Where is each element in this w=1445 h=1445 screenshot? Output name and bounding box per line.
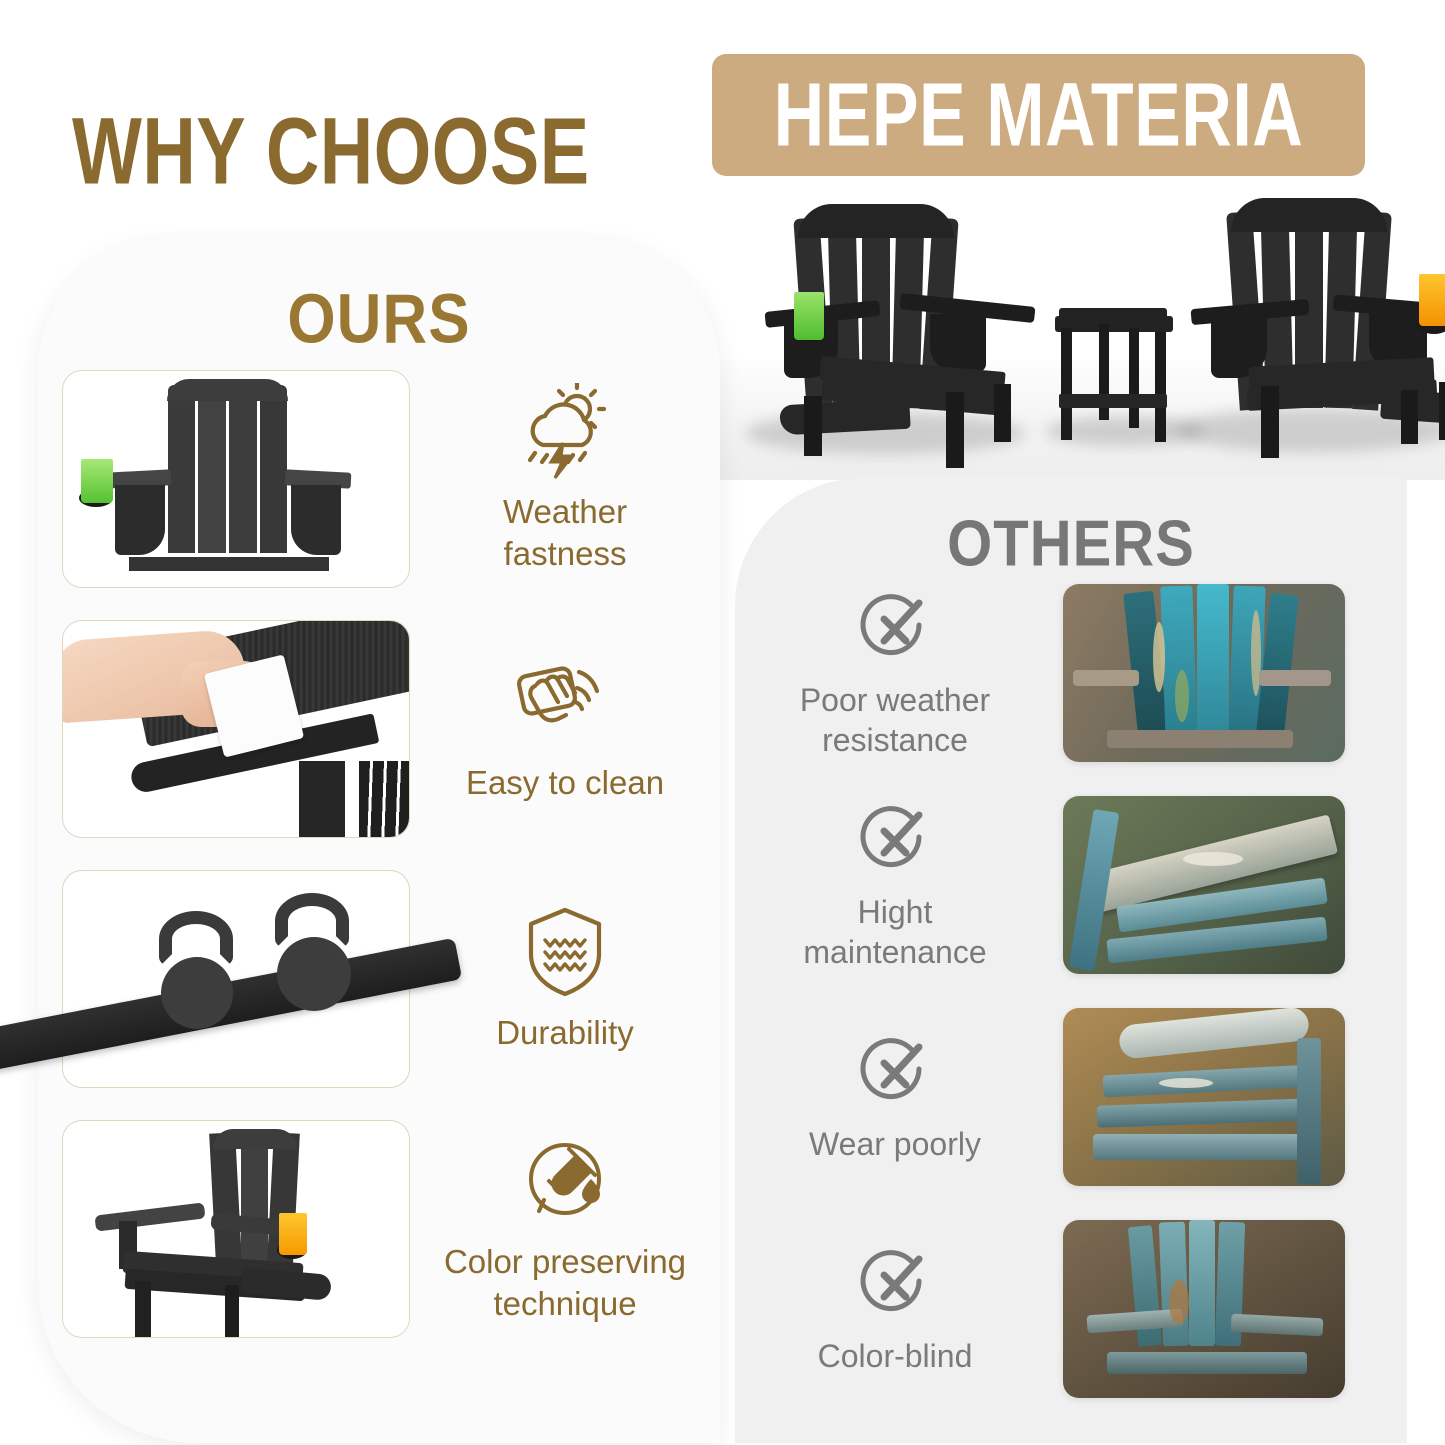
ours-feature-color: Color preserving technique bbox=[410, 1133, 720, 1325]
green-drink-glass bbox=[81, 459, 113, 503]
test-tube-droplet-icon bbox=[416, 1133, 714, 1229]
ours-thumb-clean bbox=[62, 620, 410, 838]
others-thumb-peeling-armrest bbox=[1063, 796, 1345, 974]
chair-arm-support-right bbox=[291, 485, 341, 555]
label-line-1: Poor weather bbox=[735, 680, 1055, 720]
table-leg bbox=[1061, 328, 1072, 440]
chair-back-cap bbox=[798, 204, 954, 238]
seat-rail bbox=[1107, 730, 1293, 748]
orange-drink-glass bbox=[1419, 274, 1445, 326]
label-line-2: maintenance bbox=[735, 932, 1055, 972]
others-feature-wear: Wear poorly bbox=[735, 1030, 1055, 1164]
chair-back-slat bbox=[198, 381, 226, 553]
weather-cloud-sun-lightning-icon bbox=[416, 383, 714, 479]
kettlebell-ball bbox=[161, 957, 233, 1029]
others-feature-weather: Poor weather resistance bbox=[735, 586, 1055, 761]
chair-back-cap bbox=[167, 379, 288, 401]
chair-back-cap bbox=[1231, 198, 1387, 232]
weathered-slat bbox=[1197, 584, 1229, 742]
chair-leg bbox=[225, 1285, 239, 1337]
others-feature-row: Color-blind bbox=[735, 1214, 1407, 1404]
ours-heading: OURS bbox=[38, 280, 720, 360]
chair-base-rail bbox=[129, 557, 329, 571]
table-top-edge bbox=[1059, 308, 1167, 320]
armrest bbox=[1073, 670, 1139, 686]
ours-feature-label: Easy to clean bbox=[416, 762, 714, 804]
ours-feature-row: Easy to clean bbox=[38, 616, 720, 842]
peeling-paint bbox=[1183, 852, 1243, 866]
others-heading: OTHERS bbox=[735, 506, 1407, 581]
chair-back-slats bbox=[359, 761, 410, 838]
others-feature-maintenance: Hight maintenance bbox=[735, 798, 1055, 973]
others-thumb-faded-chair bbox=[1063, 1008, 1345, 1186]
infographic-root: WHY CHOOSE HEPE MATERIA bbox=[0, 0, 1445, 1445]
chair-post bbox=[1297, 1038, 1321, 1184]
others-panel: OTHERS Poor weather resistance bbox=[735, 478, 1407, 1443]
ours-feature-clean: Easy to clean bbox=[410, 654, 720, 804]
label-line-2: resistance bbox=[735, 720, 1055, 760]
armrest bbox=[1259, 670, 1331, 686]
chair-leg bbox=[804, 396, 822, 456]
table-shelf bbox=[1059, 394, 1167, 408]
ours-thumb-color bbox=[62, 1120, 410, 1338]
others-thumb-weathered-chair bbox=[1063, 584, 1345, 762]
chair-arm-support-right bbox=[930, 314, 986, 372]
ours-panel: OURS bbox=[38, 238, 720, 1443]
chair-leg bbox=[946, 392, 964, 468]
others-feature-label: Hight maintenance bbox=[735, 892, 1055, 973]
chair-frame-post bbox=[299, 761, 345, 838]
cross-out-circle-icon bbox=[735, 586, 1055, 672]
others-feature-colorblind: Color-blind bbox=[735, 1242, 1055, 1376]
cross-out-circle-icon bbox=[735, 1030, 1055, 1116]
chair-leg bbox=[135, 1281, 151, 1337]
weathered-slat bbox=[1189, 1220, 1215, 1346]
brand-name: HEPE MATERIA bbox=[712, 70, 1365, 160]
others-feature-label: Color-blind bbox=[735, 1336, 1055, 1376]
ours-feature-weather: Weather fastness bbox=[410, 383, 720, 575]
ours-feature-row: Color preserving technique bbox=[38, 1116, 720, 1342]
peeling-paint bbox=[1159, 1078, 1213, 1088]
shield-waves-icon bbox=[416, 904, 714, 1000]
green-drink-glass bbox=[794, 292, 824, 340]
orange-drink-glass bbox=[279, 1213, 307, 1255]
others-feature-label: Poor weather resistance bbox=[735, 680, 1055, 761]
rust-patch bbox=[1169, 1280, 1189, 1324]
others-feature-row: Hight maintenance bbox=[735, 790, 1407, 980]
hero-chair-left bbox=[770, 196, 1050, 466]
label-line-2: technique bbox=[416, 1283, 714, 1325]
label-line-1: Color preserving bbox=[416, 1241, 714, 1283]
chair-seat bbox=[1107, 1352, 1307, 1374]
hero-side-table bbox=[1055, 298, 1175, 458]
ours-feature-row: Weather fastness bbox=[38, 366, 720, 592]
chair-back-slat bbox=[260, 385, 287, 553]
ours-feature-label: Weather fastness bbox=[416, 491, 714, 575]
label-line-2: fastness bbox=[416, 533, 714, 575]
peeling-paint bbox=[1153, 622, 1165, 692]
ours-feature-row: Durability bbox=[38, 866, 720, 1092]
chair-leg bbox=[994, 384, 1011, 442]
chair-leg bbox=[1439, 382, 1445, 440]
hero-chair-right bbox=[1185, 186, 1445, 466]
kettlebell-ball bbox=[277, 937, 351, 1011]
others-thumb-rusty-chair bbox=[1063, 1220, 1345, 1398]
page-header: WHY CHOOSE HEPE MATERIA bbox=[0, 44, 1445, 174]
hero-product-image bbox=[715, 180, 1445, 480]
table-leg bbox=[1129, 328, 1139, 428]
ours-feature-label: Color preserving technique bbox=[416, 1241, 714, 1325]
hand-wiping-cloth-icon bbox=[416, 654, 714, 750]
others-feature-row: Poor weather resistance bbox=[735, 578, 1407, 768]
table-leg bbox=[1155, 332, 1166, 442]
label-line-1: Weather bbox=[416, 491, 714, 533]
chair-arm-support-left bbox=[115, 485, 165, 555]
cross-out-circle-icon bbox=[735, 1242, 1055, 1328]
chair-back-cap bbox=[213, 1129, 297, 1149]
chair-back-slat bbox=[168, 385, 195, 553]
others-feature-label: Wear poorly bbox=[735, 1124, 1055, 1164]
ours-thumb-durability bbox=[62, 870, 410, 1088]
page-title-left: WHY CHOOSE bbox=[72, 104, 590, 199]
chair-leg bbox=[1401, 390, 1418, 444]
chair-seat bbox=[1093, 1134, 1317, 1160]
ours-thumb-weather bbox=[62, 370, 410, 588]
chair-leg bbox=[1261, 386, 1279, 458]
label-line-1: Hight bbox=[735, 892, 1055, 932]
ours-feature-label: Durability bbox=[416, 1012, 714, 1054]
cross-out-circle-icon bbox=[735, 798, 1055, 884]
brand-badge: HEPE MATERIA bbox=[712, 54, 1365, 176]
chair-front-runner bbox=[779, 399, 910, 436]
peeling-paint bbox=[1175, 670, 1189, 722]
chair-back-slat bbox=[229, 381, 257, 553]
chair-back-slat bbox=[241, 1129, 268, 1281]
others-feature-row: Wear poorly bbox=[735, 1002, 1407, 1192]
